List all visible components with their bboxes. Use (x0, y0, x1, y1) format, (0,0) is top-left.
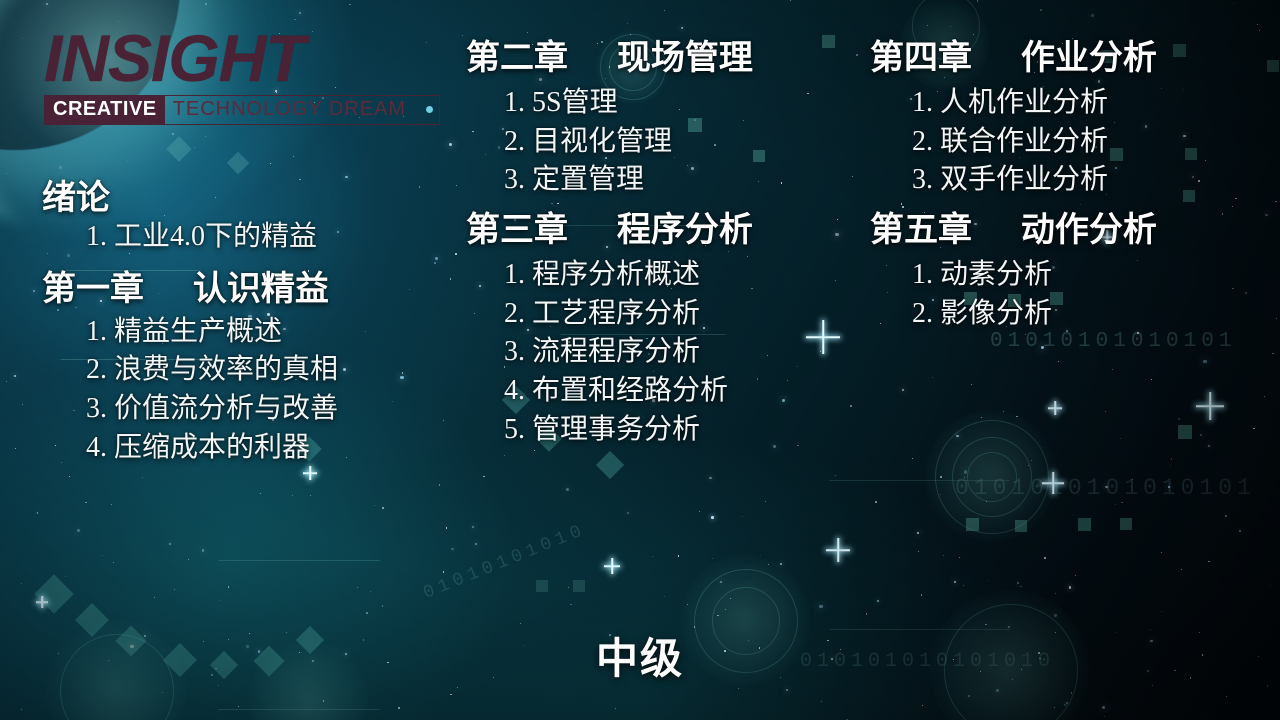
square-14 (1015, 520, 1027, 532)
chevron-arrow-lower (760, 480, 1010, 630)
ring-outline-right-core (967, 452, 1017, 502)
list-item[interactable]: 2. 工艺程序分析 (504, 295, 866, 334)
logo-creative-label: CREATIVE (45, 96, 165, 124)
column-right: 第四章 作业分析 1. 人机作业分析 2. 联合作业分析 3. 双手作业分析 第… (870, 38, 1280, 333)
square-17 (536, 580, 548, 592)
item-list-xulun: 1. 工业4.0下的精益 (86, 218, 442, 257)
list-item[interactable]: 2. 联合作业分析 (912, 123, 1280, 162)
list-item[interactable]: 3. 双手作业分析 (912, 161, 1280, 200)
chapter-title: 认识精益 (193, 270, 329, 308)
logo-tagline-text: TECHNOLOGY DREAM (173, 98, 406, 121)
list-item[interactable]: 1. 人机作业分析 (912, 84, 1280, 123)
section-chapter-3: 第三章 程序分析 1. 程序分析概述 2. 工艺程序分析 3. 流程程序分析 4… (466, 210, 866, 449)
brand-logo: INSIGHT CREATIVE TECHNOLOGY DREAM (44, 26, 440, 125)
chapter-heading-4: 第四章 作业分析 (870, 38, 1280, 78)
logo-wordmark: INSIGHT (44, 26, 440, 91)
binary-row-1: 01010101010101 (990, 330, 1236, 353)
chapter-heading-xulun: 绪论 (42, 178, 442, 218)
square-15 (1078, 518, 1091, 531)
sparkle-3 (1042, 472, 1064, 494)
list-item[interactable]: 1. 精益生产概述 (86, 313, 442, 352)
chapter-label: 第二章 (466, 39, 568, 77)
chapter-heading-2: 第二章 现场管理 (466, 38, 866, 78)
item-list-chapter-2: 1. 5S管理 2. 目视化管理 3. 定置管理 (504, 84, 866, 200)
chapter-heading-5: 第五章 动作分析 (870, 210, 1280, 250)
square-12 (1178, 425, 1192, 439)
logo-tagline-label: TECHNOLOGY DREAM (165, 96, 426, 124)
binary-row-2: 0101010101010101 (955, 475, 1256, 501)
chapter-heading-1: 第一章 认识精益 (42, 269, 442, 309)
rhombus-1 (34, 574, 74, 614)
list-item[interactable]: 1. 5S管理 (504, 84, 866, 123)
section-chapter-2: 第二章 现场管理 1. 5S管理 2. 目视化管理 3. 定置管理 (466, 38, 866, 200)
list-item[interactable]: 1. 动素分析 (912, 256, 1280, 295)
chapter-title: 现场管理 (617, 39, 753, 77)
slide-canvas: 01010101010101 0101010101010101 01010101… (0, 0, 1280, 720)
item-list-chapter-4: 1. 人机作业分析 2. 联合作业分析 3. 双手作业分析 (912, 84, 1280, 200)
sparkle-6 (604, 558, 620, 574)
section-chapter-4: 第四章 作业分析 1. 人机作业分析 2. 联合作业分析 3. 双手作业分析 (870, 38, 1280, 200)
item-list-chapter-3: 1. 程序分析概述 2. 工艺程序分析 3. 流程程序分析 4. 布置和经路分析… (504, 256, 866, 449)
list-item[interactable]: 2. 浪费与效率的真相 (86, 351, 442, 390)
square-16 (1120, 518, 1132, 530)
ring-glow-right (925, 410, 1057, 542)
list-item[interactable]: 5. 管理事务分析 (504, 411, 866, 450)
logo-tagline-bar: CREATIVE TECHNOLOGY DREAM (44, 95, 440, 125)
chapter-title: 动作分析 (1021, 211, 1157, 249)
list-item[interactable]: 1. 工业4.0下的精益 (86, 218, 442, 257)
list-item[interactable]: 4. 压缩成本的利器 (86, 429, 442, 468)
list-item[interactable]: 2. 影像分析 (912, 295, 1280, 334)
sparkle-9 (36, 596, 48, 608)
chapter-label: 第四章 (870, 39, 972, 77)
column-middle: 第二章 现场管理 1. 5S管理 2. 目视化管理 3. 定置管理 第三章 程序… (466, 38, 866, 449)
ring-outline-right (935, 420, 1049, 534)
list-item[interactable]: 3. 定置管理 (504, 161, 866, 200)
chapter-label: 第一章 (42, 270, 144, 308)
level-label: 中级 (0, 625, 1280, 686)
binary-row-4: 01010101010 (421, 520, 590, 604)
column-left: 绪论 1. 工业4.0下的精益 第一章 认识精益 1. 精益生产概述 2. 浪费… (42, 178, 442, 467)
sparkle-4 (826, 538, 850, 562)
rhombus-9 (227, 152, 250, 175)
item-list-chapter-5: 1. 动素分析 2. 影像分析 (912, 256, 1280, 333)
chapter-label: 第五章 (870, 211, 972, 249)
chapter-title: 程序分析 (617, 211, 753, 249)
list-item[interactable]: 1. 程序分析概述 (504, 256, 866, 295)
square-18 (573, 580, 585, 592)
section-chapter-5: 第五章 动作分析 1. 动素分析 2. 影像分析 (870, 210, 1280, 333)
list-item[interactable]: 3. 价值流分析与改善 (86, 390, 442, 429)
rhombus-12 (596, 451, 624, 479)
sparkle-5 (1048, 401, 1062, 415)
chapter-label: 绪论 (42, 179, 110, 217)
chapter-heading-3: 第三章 程序分析 (466, 210, 866, 250)
section-xulun: 绪论 1. 工业4.0下的精益 (42, 178, 442, 257)
ring-outline-right-inner (952, 437, 1032, 517)
logo-dot-icon (426, 106, 433, 113)
square-13 (966, 518, 979, 531)
rhombus-8 (166, 136, 191, 161)
item-list-chapter-1: 1. 精益生产概述 2. 浪费与效率的真相 3. 价值流分析与改善 4. 压缩成… (86, 313, 442, 468)
list-item[interactable]: 3. 流程程序分析 (504, 333, 866, 372)
sparkle-2 (1196, 392, 1224, 420)
list-item[interactable]: 2. 目视化管理 (504, 123, 866, 162)
sparkle-8 (303, 466, 317, 480)
chapter-label: 第三章 (466, 211, 568, 249)
chapter-title: 作业分析 (1021, 39, 1157, 77)
section-chapter-1: 第一章 认识精益 1. 精益生产概述 2. 浪费与效率的真相 3. 价值流分析与… (42, 269, 442, 468)
list-item[interactable]: 4. 布置和经路分析 (504, 372, 866, 411)
